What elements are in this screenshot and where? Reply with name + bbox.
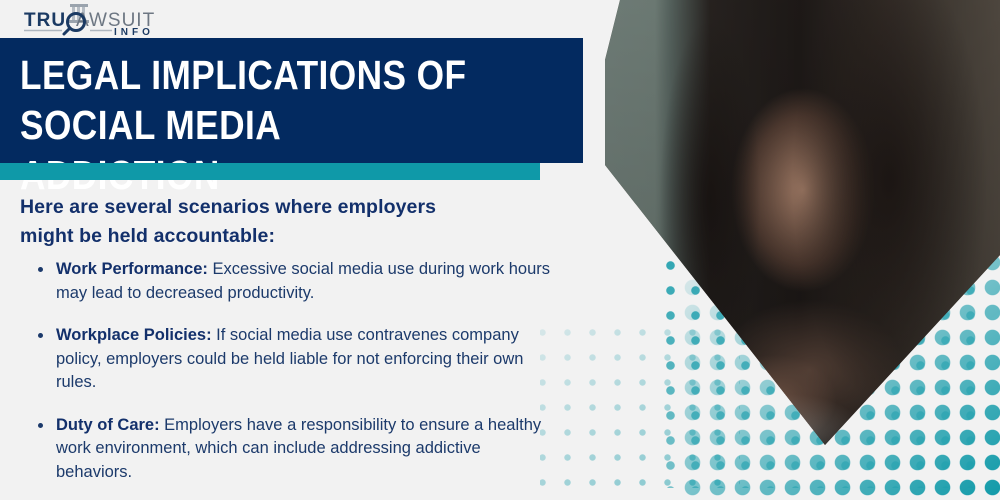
subheading: Here are several scenarios where employe… (20, 193, 490, 251)
artwork-panel (540, 0, 1000, 500)
infographic-canvas: TRU AWSUIT INFO LEGAL IMPLICATIONS OF SO… (0, 0, 1000, 500)
list-item-term: Duty of Care: (56, 416, 160, 434)
svg-text:INFO: INFO (114, 27, 154, 38)
list-item: Workplace Policies: If social media use … (30, 324, 560, 395)
list-item: Work Performance: Excessive social media… (30, 258, 560, 305)
svg-text:TRU: TRU (24, 10, 66, 31)
list-item: Duty of Care: Employers have a responsib… (30, 414, 560, 485)
brand-logo-icon: TRU AWSUIT INFO (14, 2, 154, 38)
list-item-term: Work Performance: (56, 260, 208, 278)
accent-bar (0, 163, 540, 180)
title-banner: LEGAL IMPLICATIONS OF SOCIAL MEDIA ADDIC… (0, 38, 583, 163)
brand-logo: TRU AWSUIT INFO (14, 2, 154, 38)
list-item-term: Workplace Policies: (56, 326, 212, 344)
scenario-list: Work Performance: Excessive social media… (30, 258, 560, 500)
